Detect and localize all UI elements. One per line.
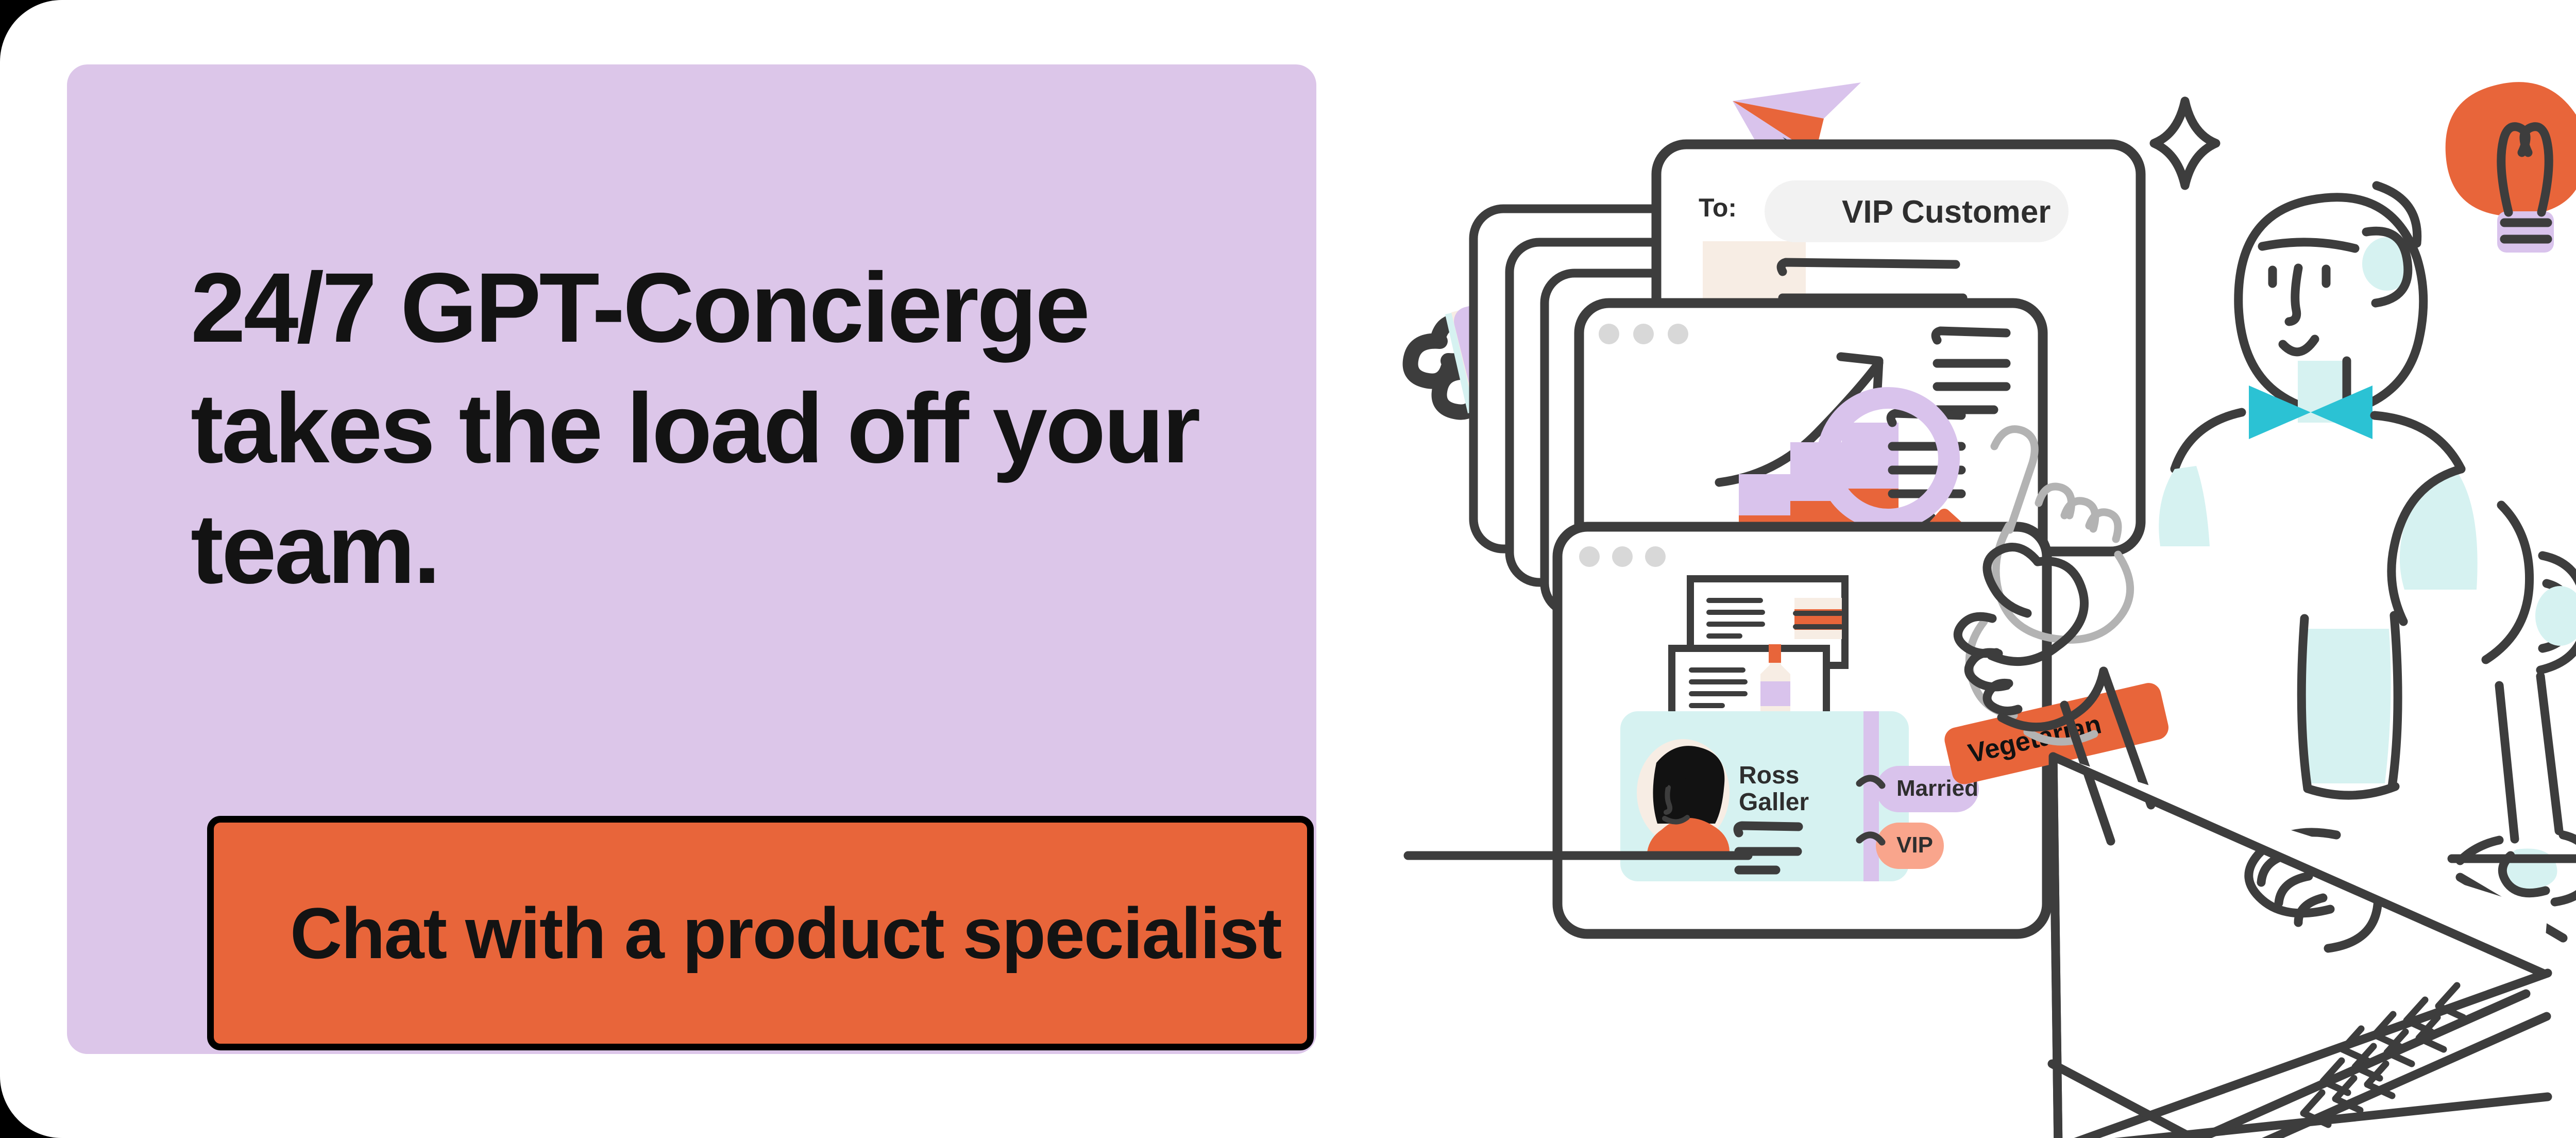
window-dot	[1599, 324, 1619, 344]
ai-concierge-illustration: .ink { fill:none; stroke:#3D3D3D; stroke…	[1316, 0, 2576, 1138]
sparkle-icon	[2154, 101, 2216, 186]
promo-panel: 24/7 GPT-Concierge takes the load off yo…	[67, 64, 1316, 1054]
window-dot	[1668, 324, 1688, 344]
email-recipient: VIP Customer	[1842, 194, 2050, 230]
lightbulb-icon	[2446, 82, 2576, 253]
cta-button-label: Chat with a product specialist	[290, 892, 1281, 975]
profile-name-line1: Ross	[1739, 762, 1799, 789]
page-title: 24/7 GPT-Concierge takes the load off yo…	[191, 247, 1221, 610]
email-to-label: To:	[1699, 193, 1737, 222]
profile-name-line2: Galler	[1739, 789, 1809, 816]
laptop-icon	[2052, 757, 2548, 1138]
chat-with-specialist-button[interactable]: Chat with a product specialist	[207, 816, 1314, 1050]
window-dot	[1612, 546, 1633, 567]
window-dot	[1579, 546, 1600, 567]
window-dot	[1645, 546, 1666, 567]
window-dot	[1633, 324, 1654, 344]
cta-banner: 24/7 GPT-Concierge takes the load off yo…	[0, 0, 2576, 1138]
svg-text:VIP: VIP	[1896, 832, 1933, 858]
